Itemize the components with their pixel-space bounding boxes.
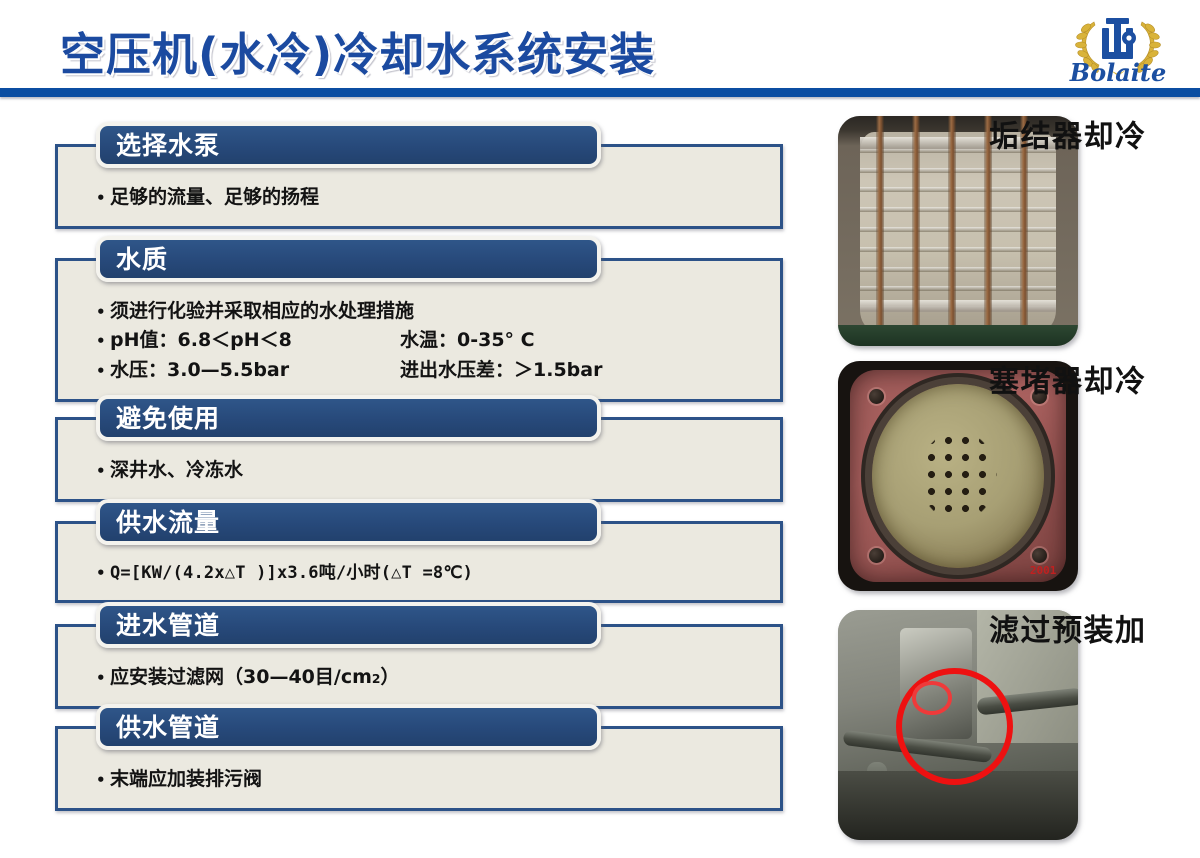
bullet-line: • pH值：6.8＜pH＜8 水温：0-35° C: [96, 326, 780, 355]
section-heading-bar[interactable]: 避免使用: [96, 395, 601, 441]
photo-caption-scaling: 冷却器结垢: [1094, 120, 1142, 156]
tube-sheet-disc: [872, 384, 1045, 568]
tube-holes-pattern: [906, 415, 1010, 536]
line-text-temperature: 水温：0-35° C: [400, 326, 535, 355]
bolaite-logo: Bolaite: [1058, 4, 1178, 90]
section-heading-label: 进水管道: [116, 613, 220, 638]
line-text-filter-mesh: 应安装过滤网（30—40目/cm: [110, 663, 372, 692]
line-text-ph: pH值：6.8＜pH＜8: [110, 326, 400, 355]
line-text-pressure: 水压：3.0—5.5bar: [110, 356, 400, 385]
section-heading-label: 供水管道: [116, 715, 220, 740]
annotation-circle-small-red: [912, 681, 951, 714]
section-heading-bar[interactable]: 供水管道: [96, 704, 601, 750]
section-heading-bar[interactable]: 供水流量: [96, 499, 601, 545]
photo-caption-prefilter: 加装预过滤: [1094, 614, 1142, 650]
photo-caption-blockage: 冷却器堵塞: [1094, 365, 1142, 401]
bullet-icon: •: [96, 330, 110, 353]
bolaite-wordmark: Bolaite: [1058, 58, 1178, 87]
photo-date-stamp: 2001: [1030, 564, 1057, 577]
slide-header: 空压机(水冷)冷却水系统安装: [0, 0, 1200, 98]
bullet-line: • 水压：3.0—5.5bar 进出水压差：＞1.5bar: [96, 356, 780, 385]
line-text-flow-formula: Q=[KW/(4.2x△T )]x3.6吨/小时(△T =8℃): [110, 560, 473, 586]
bullet-line: • Q=[KW/(4.2x△T )]x3.6吨/小时(△T =8℃): [96, 560, 780, 586]
line-text: 深井水、冷冻水: [110, 456, 400, 485]
section-heading-bar[interactable]: 选择水泵: [96, 122, 601, 168]
section-heading-bar[interactable]: 水质: [96, 236, 601, 282]
bullet-line: • 足够的流量、足够的扬程: [96, 183, 780, 212]
bullet-icon: •: [96, 562, 110, 585]
line-text-filter-mesh-tail: ）: [380, 663, 399, 692]
bullet-line: • 须进行化验并采取相应的水处理措施: [96, 297, 780, 326]
slide-content: • 足够的流量、足够的扬程 选择水泵 • 须进行化验并采取相应的水处理措施 • …: [0, 98, 1200, 858]
section-heading-label: 供水流量: [116, 510, 220, 535]
bullet-icon: •: [96, 187, 110, 210]
section-heading-label: 避免使用: [116, 406, 220, 431]
section-heading-label: 水质: [116, 247, 168, 272]
line-text-pressure-diff: 进出水压差：＞1.5bar: [400, 356, 602, 385]
bullet-icon: •: [96, 667, 110, 690]
section-heading-label: 选择水泵: [116, 133, 220, 158]
page-title: 空压机(水冷)冷却水系统安装: [60, 18, 655, 83]
section-heading-bar[interactable]: 进水管道: [96, 602, 601, 648]
line-text: 末端应加装排污阀: [110, 765, 400, 794]
bullet-icon: •: [96, 769, 110, 792]
bullet-icon: •: [96, 460, 110, 483]
bullet-line: • 应安装过滤网（30—40目/cm 2 ）: [96, 663, 780, 692]
bullet-line: • 深井水、冷冻水: [96, 456, 780, 485]
line-text: 须进行化验并采取相应的水处理措施: [110, 297, 414, 326]
bullet-line: • 末端应加装排污阀: [96, 765, 780, 794]
annotation-circle-red: [896, 668, 1014, 786]
bullet-icon: •: [96, 360, 110, 383]
bullet-icon: •: [96, 301, 110, 324]
header-divider-rule: [0, 88, 1200, 97]
line-text: 足够的流量、足够的扬程: [110, 183, 400, 212]
line-text-filter-mesh-exponent: 2: [372, 670, 381, 689]
